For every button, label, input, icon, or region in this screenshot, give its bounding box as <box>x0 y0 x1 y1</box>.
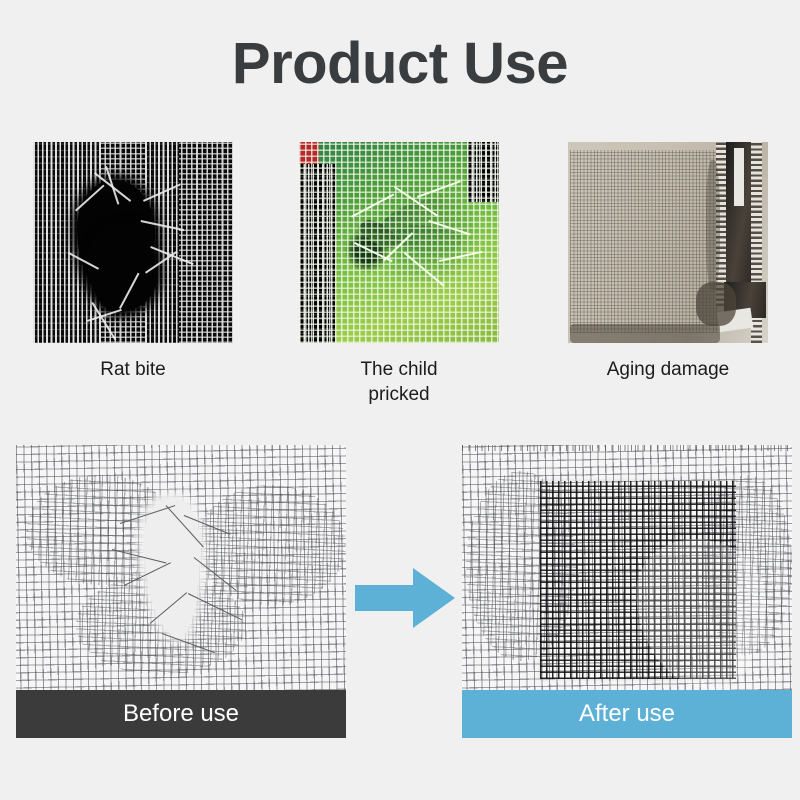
after-use-caption-bar: After use <box>462 690 792 738</box>
damage-example-rat-bite[interactable]: Rat bite <box>33 142 233 382</box>
aging-damage-photo <box>568 142 768 343</box>
damage-example-aging-damage[interactable]: Aging damage <box>568 142 768 382</box>
before-use-label: Before use <box>123 700 239 728</box>
frame-highlight <box>734 148 744 206</box>
rat-bite-photo <box>33 142 233 343</box>
arrow-right-icon <box>355 566 455 630</box>
damage-example-child-pricked[interactable]: The child pricked <box>299 142 499 407</box>
mesh-top-edge <box>462 445 792 451</box>
damage-example-caption: Rat bite <box>33 357 233 382</box>
page-title: Product Use <box>0 34 800 95</box>
dirt-streak <box>706 160 720 290</box>
child-pricked-photo <box>299 142 499 343</box>
before-use-panel[interactable]: Before use <box>16 445 346 738</box>
after-use-photo <box>462 445 792 690</box>
mesh-distortion <box>196 485 346 605</box>
white-mesh-overlay <box>299 142 499 343</box>
repair-patch <box>540 481 736 679</box>
dirt-stain <box>696 282 736 326</box>
damage-example-caption: Aging damage <box>568 357 768 382</box>
before-use-photo <box>16 445 346 690</box>
damage-examples-row: Rat bite The child pricked <box>0 142 800 402</box>
before-use-caption-bar: Before use <box>16 690 346 738</box>
after-use-label: After use <box>579 700 675 728</box>
patched-tear-shadow <box>636 539 766 689</box>
damage-example-caption: The child pricked <box>299 357 499 407</box>
dirt-stain <box>570 324 720 343</box>
after-use-panel[interactable]: After use <box>462 445 792 738</box>
